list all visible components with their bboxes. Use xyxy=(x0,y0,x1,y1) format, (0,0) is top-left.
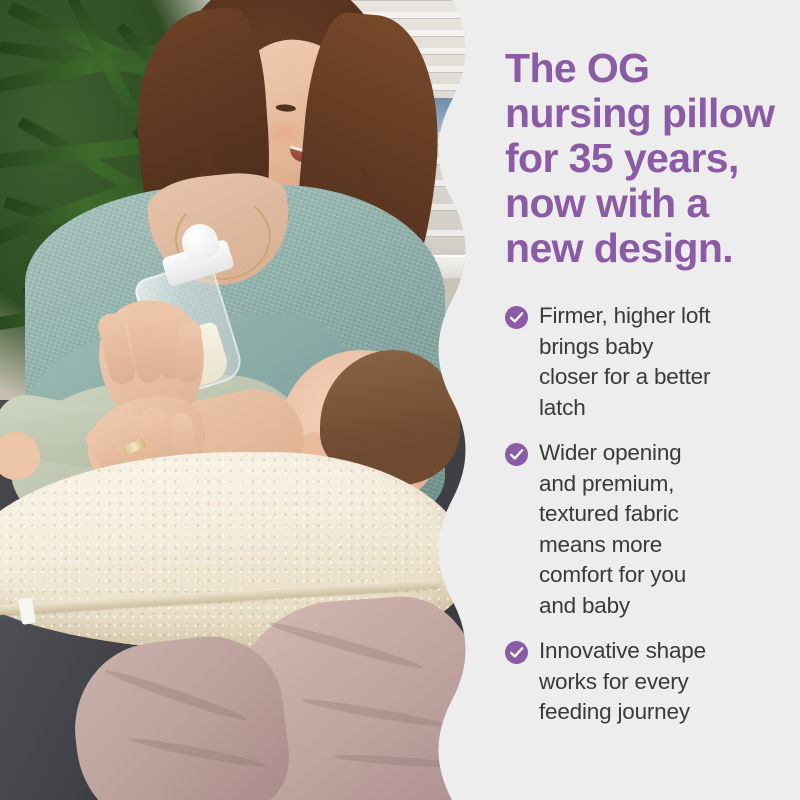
check-circle-icon xyxy=(505,443,528,466)
feature-list: Firmer, higher loft brings baby closer f… xyxy=(505,301,785,728)
list-item: Firmer, higher loft brings baby closer f… xyxy=(505,301,785,423)
copy-content: The OG nursing pillow for 35 years, now … xyxy=(505,46,785,728)
copy-panel: The OG nursing pillow for 35 years, now … xyxy=(470,0,800,800)
list-item: Wider opening and premium, textured fabr… xyxy=(505,438,785,621)
check-circle-icon xyxy=(505,306,528,329)
list-item-label: Innovative shape works for every feeding… xyxy=(539,636,706,728)
lifestyle-photo xyxy=(0,0,470,800)
list-item-label: Firmer, higher loft brings baby closer f… xyxy=(539,301,710,423)
page-title: The OG nursing pillow for 35 years, now … xyxy=(505,46,785,271)
product-feature-panel: The OG nursing pillow for 35 years, now … xyxy=(0,0,800,800)
list-item: Innovative shape works for every feeding… xyxy=(505,636,785,728)
list-item-label: Wider opening and premium, textured fabr… xyxy=(539,438,686,621)
check-circle-icon xyxy=(505,641,528,664)
